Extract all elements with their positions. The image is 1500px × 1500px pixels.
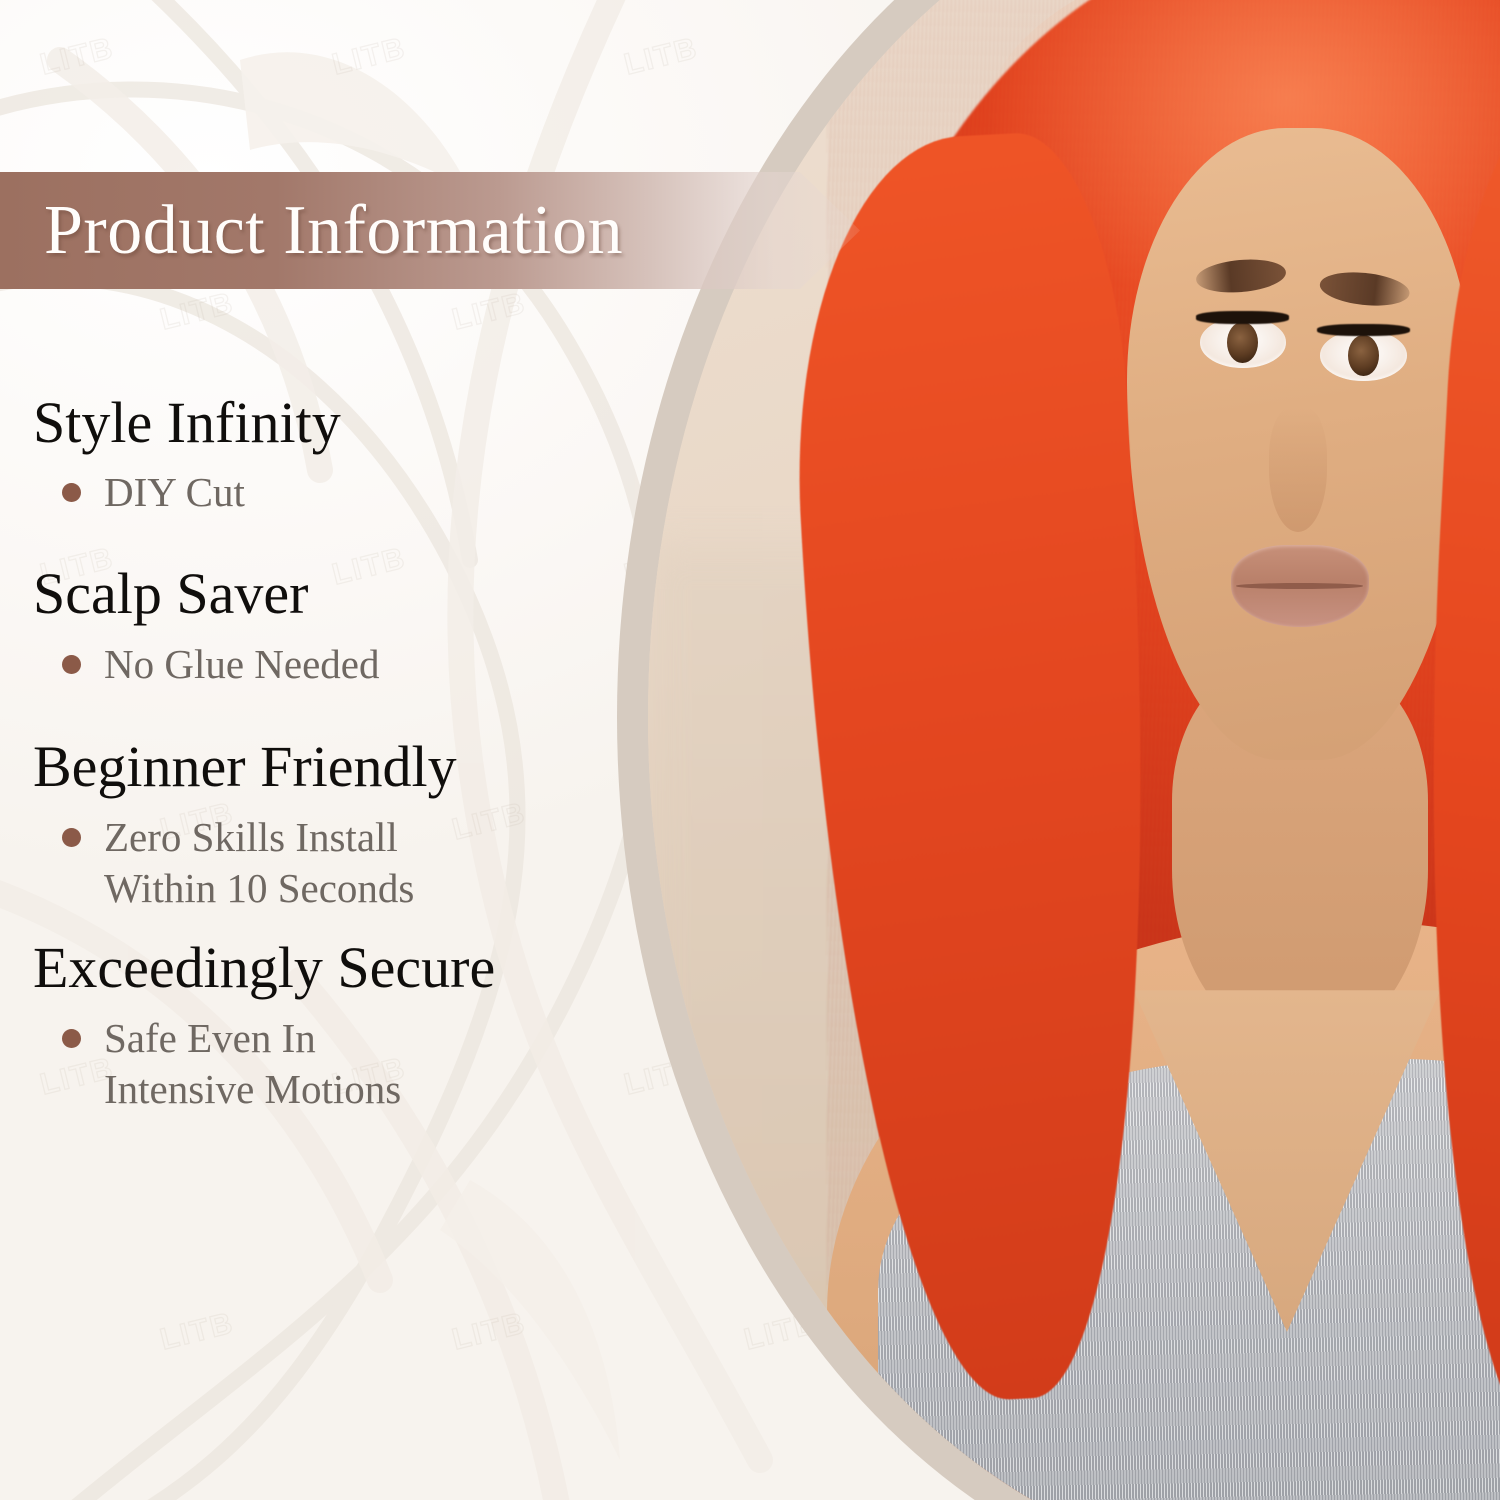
iris-left (1227, 322, 1258, 363)
lips (1231, 545, 1369, 627)
feature-bullet: No Glue Needed (0, 639, 700, 691)
bullet-line: Safe Even In (104, 1013, 401, 1065)
eye-right (1320, 330, 1406, 381)
eye-left (1200, 317, 1286, 368)
bullet-text: Safe Even InIntensive Motions (104, 1013, 401, 1116)
eyelash-right (1317, 324, 1410, 337)
bullet-line: Zero Skills Install (104, 812, 414, 864)
eyebrow-left (1195, 257, 1287, 296)
litb-watermark: LITB (329, 31, 410, 82)
lip-line (1236, 583, 1363, 589)
bullet-text: DIY Cut (104, 467, 245, 519)
model-face (1127, 128, 1472, 760)
eyelash-left (1196, 311, 1289, 324)
bullet-dot-icon (62, 1029, 81, 1048)
litb-watermark: LITB (449, 1306, 530, 1357)
feature-block: Style InfinityDIY Cut (0, 392, 700, 519)
litb-watermark: LITB (157, 286, 238, 337)
bullet-text: No Glue Needed (104, 639, 380, 691)
feature-title: Beginner Friendly (0, 736, 700, 797)
bullet-line: Intensive Motions (104, 1064, 401, 1116)
feature-block: Exceedingly SecureSafe Even InIntensive … (0, 937, 700, 1116)
bullet-dot-icon (62, 655, 81, 674)
feature-block: Beginner FriendlyZero Skills InstallWith… (0, 736, 700, 915)
litb-watermark: LITB (37, 31, 118, 82)
eyebrow-right (1319, 268, 1412, 309)
feature-title: Exceedingly Secure (0, 937, 700, 998)
feature-block: Scalp SaverNo Glue Needed (0, 563, 700, 690)
feature-list: Style InfinityDIY CutScalp SaverNo Glue … (0, 392, 700, 1146)
litb-watermark: LITB (449, 286, 530, 337)
page-title: Product Information (0, 196, 623, 266)
bullet-dot-icon (62, 483, 81, 502)
litb-watermark: LITB (157, 1306, 238, 1357)
bullet-line: No Glue Needed (104, 639, 380, 691)
feature-title: Scalp Saver (0, 563, 700, 624)
bullet-line: DIY Cut (104, 467, 245, 519)
iris-right (1348, 335, 1379, 376)
bullet-text: Zero Skills InstallWithin 10 Seconds (104, 812, 414, 915)
bullet-dot-icon (62, 828, 81, 847)
bullet-line: Within 10 Seconds (104, 863, 414, 915)
feature-bullet: Zero Skills InstallWithin 10 Seconds (0, 812, 700, 915)
product-information-banner: Product Information (0, 172, 860, 289)
nose (1269, 406, 1328, 532)
feature-bullet: DIY Cut (0, 467, 700, 519)
feature-bullet: Safe Even InIntensive Motions (0, 1013, 700, 1116)
product-information-graphic: LITBLITBLITBLITBLITBLITBLITBLITBLITBLITB… (0, 0, 1500, 1500)
feature-title: Style Infinity (0, 392, 700, 453)
